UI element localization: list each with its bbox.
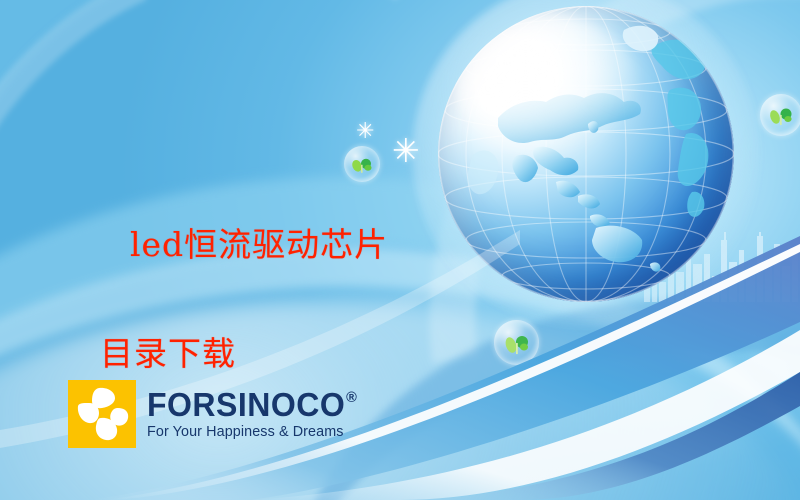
- bubble-sprout-right: [760, 94, 800, 136]
- four-petal-pinwheel-icon: [68, 380, 136, 448]
- brand-tagline: For Your Happiness & Dreams: [147, 424, 362, 440]
- earth-globe-icon: [438, 6, 734, 302]
- earth-globe: [438, 6, 734, 302]
- sparkle-small-icon: ✳: [356, 120, 374, 142]
- logo-text-block: FORSINOCO ® For Your Happiness & Dreams: [147, 388, 364, 440]
- bubble-sprout-lower: [494, 320, 539, 365]
- marketing-banner: ✳ ✳: [0, 0, 800, 500]
- headline-line-1: led恒流驱动芯片: [130, 225, 388, 264]
- brand-logo[interactable]: FORSINOCO ® For Your Happiness & Dreams: [68, 380, 364, 448]
- brand-wordmark: FORSINOCO ®: [147, 388, 357, 422]
- brand-name: FORSINOCO: [147, 388, 345, 422]
- green-sprout-icon: [503, 331, 531, 357]
- globe-rim: [438, 6, 734, 302]
- band-blue-deep: [430, 372, 800, 500]
- headline-line-2: 目录下载: [100, 327, 388, 382]
- sparkle-large-icon: ✳: [392, 134, 420, 167]
- green-sprout-icon: [768, 104, 794, 128]
- registered-trademark-icon: ®: [346, 390, 357, 405]
